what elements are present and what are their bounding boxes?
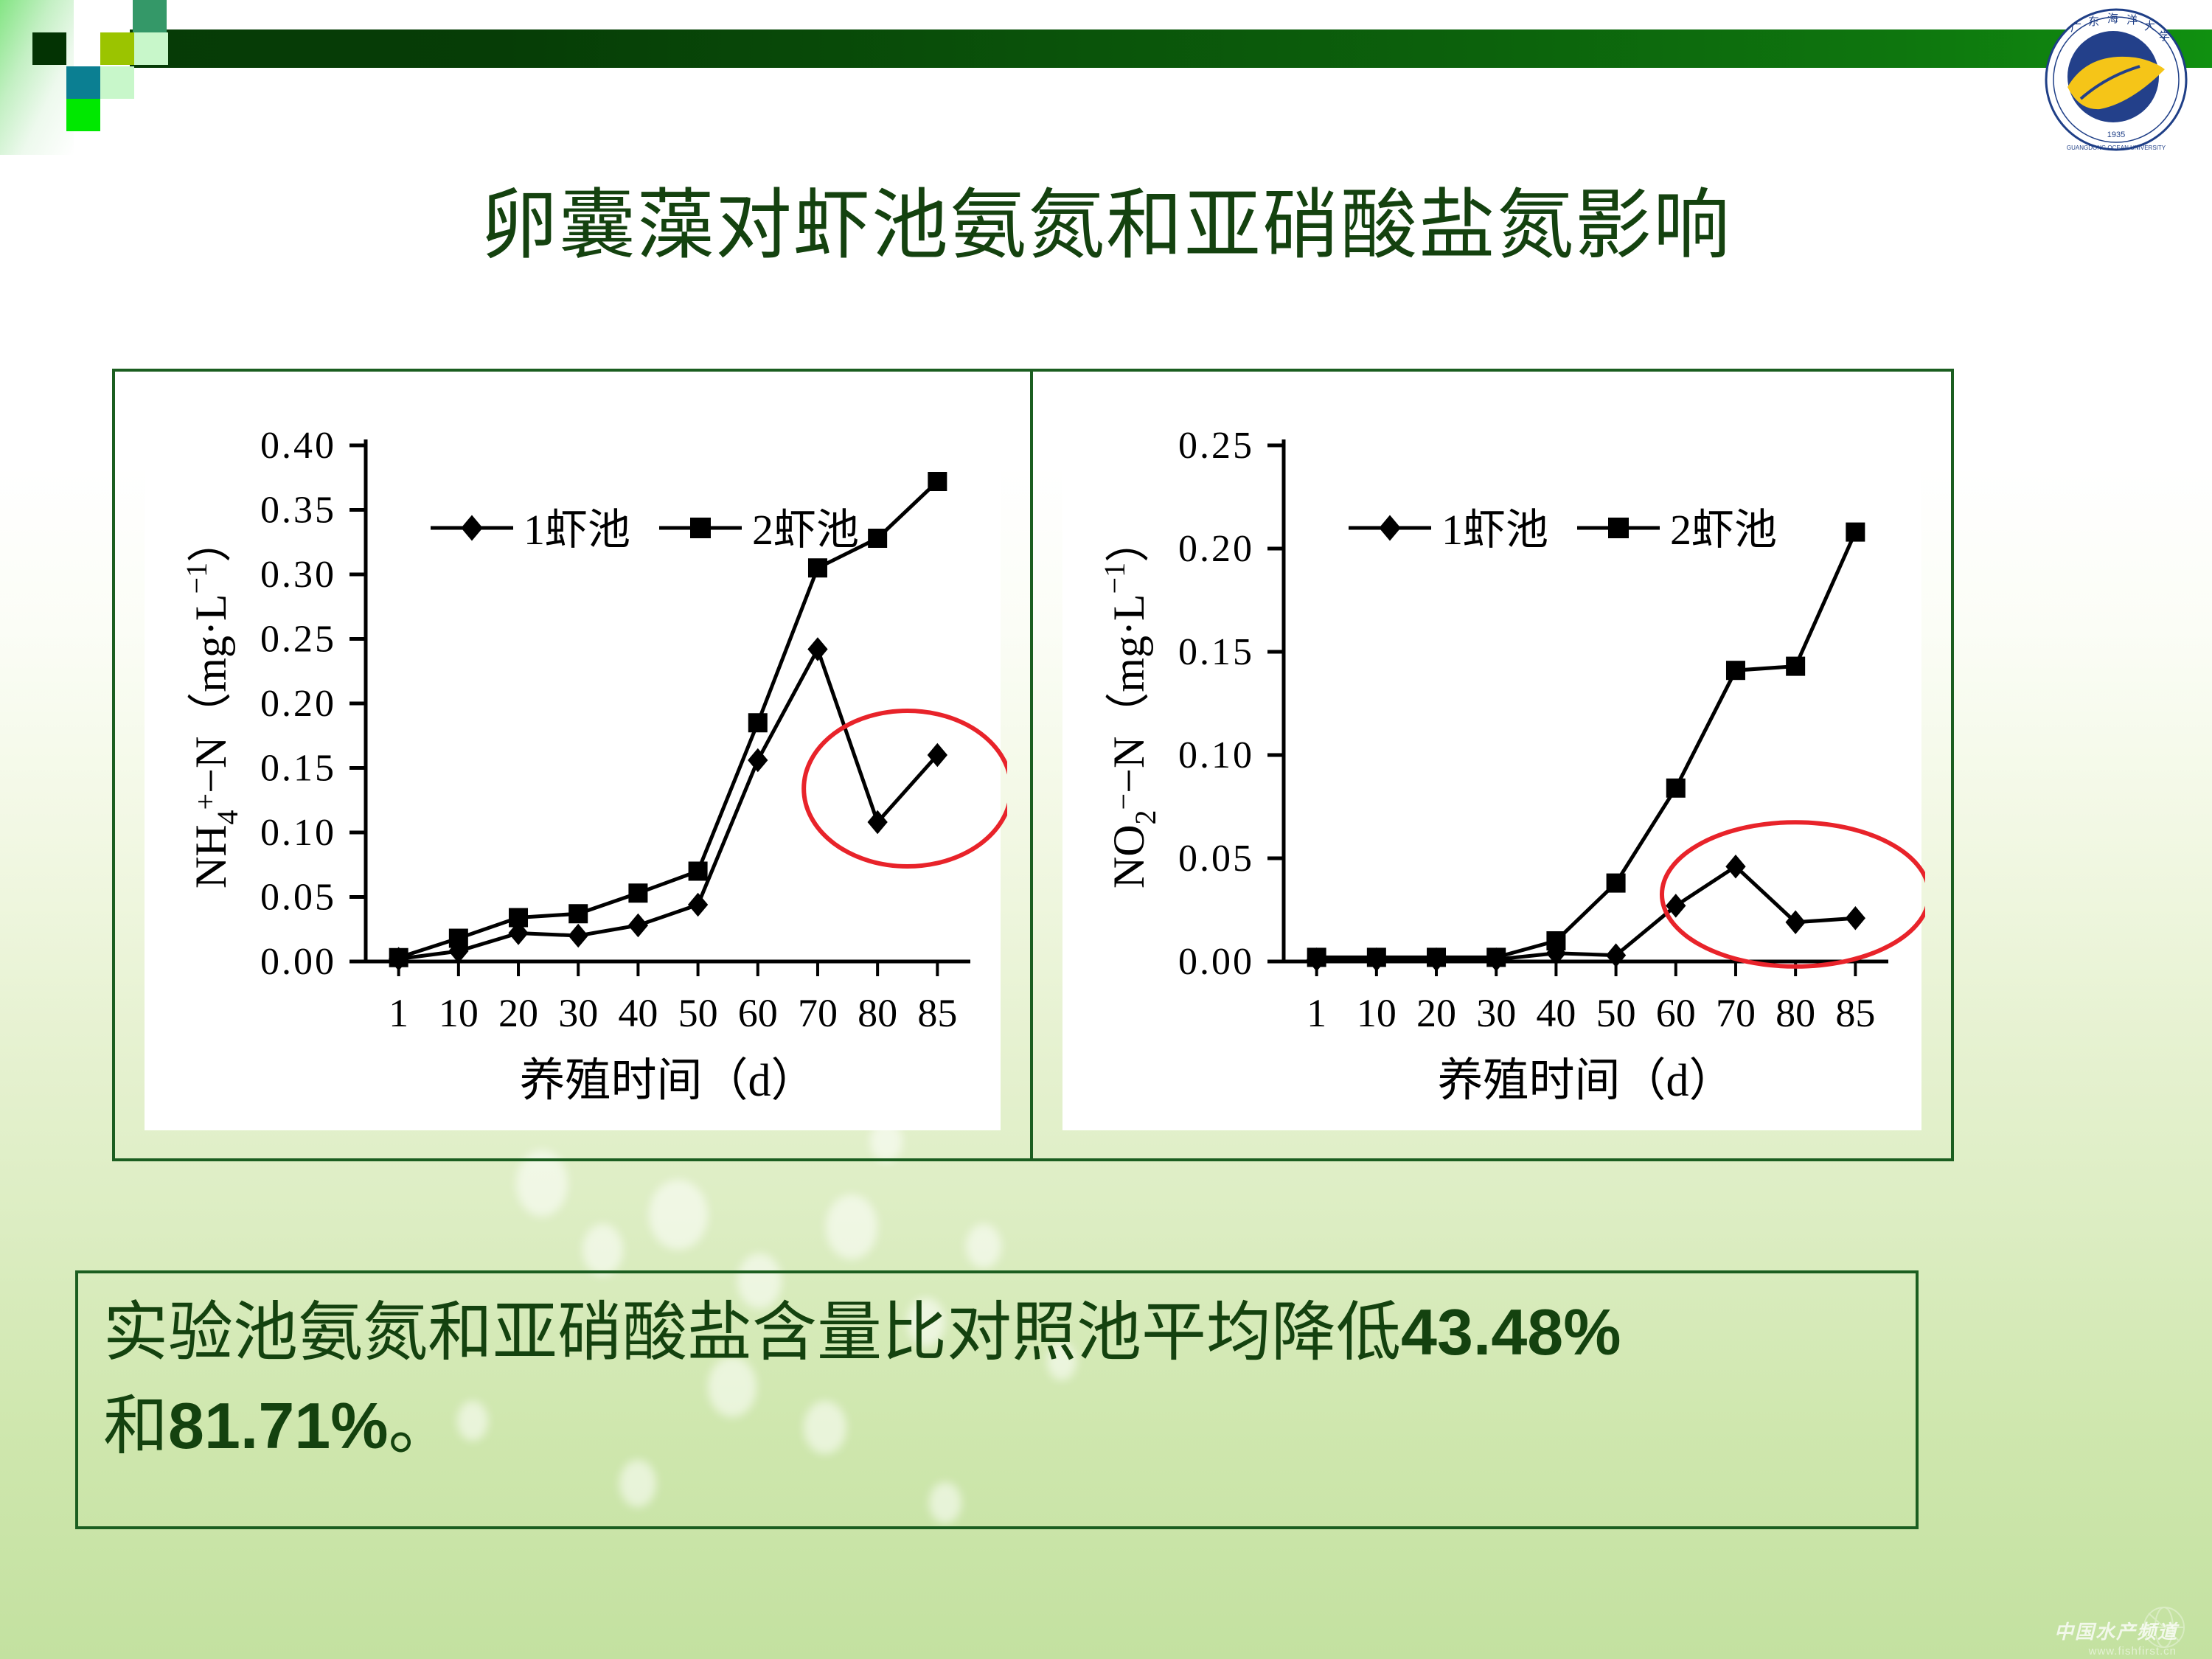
y-axis-title-text: NH4+−N（mg·L−1）	[180, 518, 244, 888]
conclusion-box: 实验池氨氮和亚硝酸盐含量比对照池平均降低43.48% 和81.71%。	[75, 1270, 1919, 1529]
data-point-2虾池	[748, 713, 768, 732]
conclusion-line2-prefix: 和	[103, 1391, 168, 1463]
y-axis-tick-label: 0.15	[260, 748, 336, 790]
x-axis-tick-label: 1	[389, 991, 408, 1035]
legend-item-1虾池: 1虾池	[1349, 506, 1548, 554]
chart-nh4: 0.000.050.100.150.200.250.300.350.401102…	[115, 372, 1033, 1158]
x-axis-title: 养殖时间（d）	[1437, 1056, 1734, 1105]
conclusion-line-2: 和81.71%。	[103, 1380, 1891, 1474]
x-axis-tick-label: 40	[618, 991, 658, 1035]
data-point-2虾池	[449, 929, 468, 948]
data-point-2虾池	[689, 862, 708, 881]
data-point-2虾池	[1427, 947, 1446, 967]
data-point-2虾池	[628, 883, 647, 902]
y-axis-tick-label: 0.35	[260, 490, 336, 532]
y-axis-tick-label: 0.30	[260, 554, 336, 596]
legend-label: 2虾池	[752, 506, 859, 554]
x-axis-tick-label: 50	[1596, 991, 1636, 1035]
data-point-2虾池	[808, 558, 827, 577]
legend-item-2虾池: 2虾池	[1577, 506, 1777, 554]
legend-label: 2虾池	[1670, 506, 1777, 554]
legend-label: 1虾池	[1441, 506, 1548, 554]
y-axis-tick-label: 0.05	[1178, 838, 1254, 880]
data-point-2虾池	[1607, 874, 1626, 893]
x-axis-tick-label: 1	[1307, 991, 1326, 1035]
x-axis-tick-label: 70	[798, 991, 838, 1035]
y-axis-tick-label: 0.10	[260, 812, 336, 854]
legend-item-1虾池: 1虾池	[431, 506, 630, 554]
svg-text:大: 大	[2144, 20, 2155, 32]
svg-text:洋: 洋	[2126, 14, 2138, 27]
data-point-1虾池	[1606, 943, 1626, 967]
y-axis-tick-label: 0.15	[1178, 631, 1254, 673]
header-decoration-band	[0, 0, 2212, 155]
data-point-2虾池	[868, 529, 887, 548]
data-point-2虾池	[1367, 947, 1386, 967]
annotation-ellipse	[1662, 822, 1925, 967]
x-axis-tick-label: 50	[678, 991, 718, 1035]
y-axis-title: NH4+−N（mg·L−1）	[180, 518, 244, 888]
legend-marker	[690, 518, 711, 538]
x-axis-tick-label: 60	[738, 991, 778, 1035]
x-axis-tick-label: 10	[1357, 991, 1397, 1035]
y-axis-title-text: NO2−−N（mg·L−1）	[1098, 518, 1162, 888]
watermark-url: www.fishfirst.cn	[2089, 1645, 2177, 1658]
series-line-1虾池	[399, 650, 938, 959]
y-axis-tick-label: 0.40	[260, 425, 336, 467]
conclusion-line1-text: 实验池氨氮和亚硝酸盐含量比对照池平均降低	[103, 1298, 1401, 1369]
data-point-2虾池	[568, 904, 588, 923]
x-axis-tick-label: 80	[858, 991, 897, 1035]
x-axis-tick-label: 70	[1716, 991, 1756, 1035]
x-axis-tick-label: 60	[1656, 991, 1696, 1035]
y-axis-tick-label: 0.10	[1178, 734, 1254, 776]
charts-panel: 0.000.050.100.150.200.250.300.350.401102…	[112, 369, 1954, 1161]
series-line-2虾池	[1317, 532, 1856, 958]
data-point-2虾池	[928, 472, 947, 491]
svg-text:1935: 1935	[2107, 131, 2125, 139]
y-axis-tick-label: 0.00	[1178, 941, 1254, 983]
y-axis-tick-label: 0.00	[260, 941, 336, 983]
y-axis-title: NO2−−N（mg·L−1）	[1098, 518, 1162, 888]
x-axis-tick-label: 85	[1835, 991, 1875, 1035]
legend-marker	[461, 515, 482, 541]
header-green-bar	[130, 29, 2212, 68]
y-axis-tick-label: 0.25	[260, 619, 336, 661]
svg-text:GUANGDONG OCEAN UNIVERSITY: GUANGDONG OCEAN UNIVERSITY	[2067, 145, 2166, 151]
svg-text:广: 广	[2070, 21, 2081, 34]
legend-marker	[1608, 518, 1629, 538]
mosaic-square-brightgreen	[66, 99, 100, 131]
legend-label: 1虾池	[524, 506, 630, 554]
x-axis-tick-label: 30	[558, 991, 598, 1035]
data-point-2虾池	[1726, 661, 1745, 680]
data-point-2虾池	[1546, 931, 1565, 950]
watermark-text: 中国水产频道	[2054, 1617, 2178, 1644]
data-point-1虾池	[688, 893, 708, 917]
university-logo: 1935 广东海 洋大学 GUANGDONG OCEAN UNIVERSITY	[2042, 6, 2190, 153]
x-axis-title: 养殖时间（d）	[519, 1056, 816, 1105]
data-point-2虾池	[1786, 657, 1805, 676]
conclusion-value-nitrite: 81.71%	[168, 1389, 388, 1462]
data-point-2虾池	[509, 908, 528, 928]
data-point-2虾池	[389, 948, 408, 967]
chart-no2: 0.000.050.100.150.200.251102030405060708…	[1033, 372, 1951, 1158]
conclusion-line-1: 实验池氨氮和亚硝酸盐含量比对照池平均降低43.48%	[103, 1287, 1891, 1380]
data-point-2虾池	[1846, 523, 1865, 542]
data-point-1虾池	[628, 914, 648, 938]
x-axis-tick-label: 40	[1536, 991, 1576, 1035]
data-point-2虾池	[1666, 779, 1686, 798]
page-title: 卵囊藻对虾池氨氮和亚硝酸盐氮影响	[0, 184, 2212, 268]
mosaic-square-cyan	[66, 66, 100, 99]
mosaic-square-teal	[133, 0, 167, 32]
data-point-1虾池	[748, 748, 768, 773]
y-axis-tick-label: 0.20	[260, 683, 336, 725]
mosaic-square-olive	[100, 32, 134, 65]
svg-text:学: 学	[2159, 30, 2170, 43]
data-point-2虾池	[1307, 947, 1326, 967]
mosaic-square-palegreen2	[100, 66, 134, 99]
x-axis-tick-label: 85	[917, 991, 957, 1035]
data-point-1虾池	[1846, 906, 1865, 931]
legend-item-2虾池: 2虾池	[659, 506, 859, 554]
mosaic-square-palegreen1	[134, 32, 168, 65]
data-point-2虾池	[1486, 947, 1506, 967]
y-axis-tick-label: 0.20	[1178, 528, 1254, 570]
data-point-1虾池	[807, 637, 827, 661]
svg-text:东: 东	[2088, 15, 2099, 28]
conclusion-value-ammonia: 43.48%	[1401, 1295, 1621, 1368]
svg-text:海: 海	[2107, 13, 2118, 25]
x-axis-tick-label: 10	[439, 991, 479, 1035]
y-axis-tick-label: 0.05	[260, 877, 336, 919]
slide-canvas: 1935 广东海 洋大学 GUANGDONG OCEAN UNIVERSITY …	[0, 0, 2212, 1659]
x-axis-tick-label: 30	[1476, 991, 1516, 1035]
x-axis-tick-label: 20	[1416, 991, 1456, 1035]
data-point-1虾池	[568, 924, 588, 948]
header-left-fade	[0, 0, 74, 155]
y-axis-tick-label: 0.25	[1178, 425, 1254, 467]
legend-marker	[1379, 515, 1400, 541]
conclusion-line2-period: 。	[388, 1391, 453, 1463]
x-axis-tick-label: 20	[498, 991, 538, 1035]
mosaic-square-darkgreen1	[32, 32, 66, 65]
x-axis-tick-label: 80	[1775, 991, 1815, 1035]
